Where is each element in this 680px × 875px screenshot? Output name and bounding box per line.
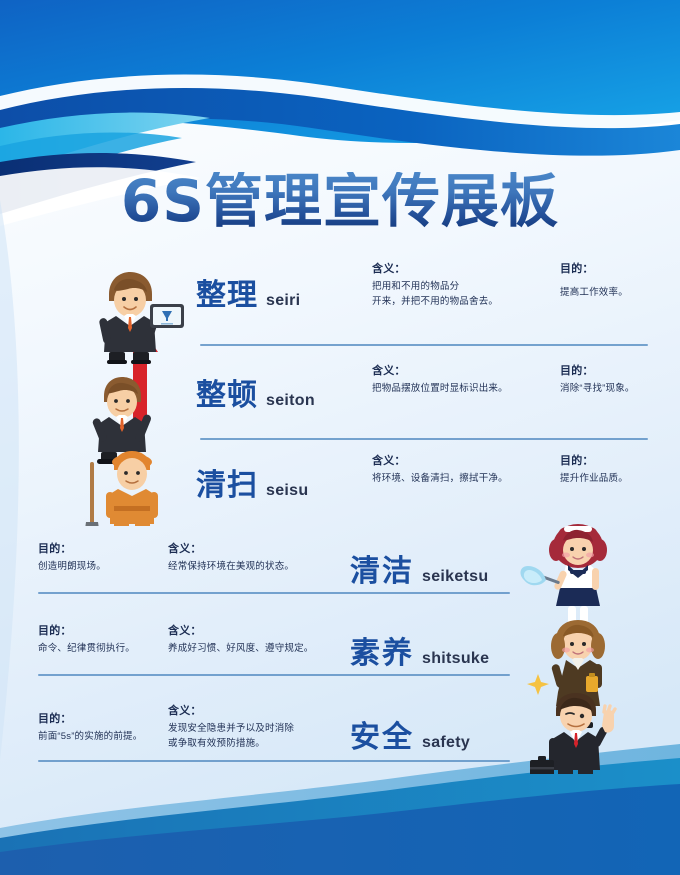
meaning-label: 含义： bbox=[372, 364, 562, 378]
row-seiketsu-romaji: seiketsu bbox=[422, 568, 488, 586]
page-title: 6S管理宣传展板 bbox=[121, 172, 559, 230]
purpose-label: 目的： bbox=[38, 624, 168, 638]
row-seiketsu-purpose: 目的： 创造明朗现场。 bbox=[38, 542, 158, 575]
purpose-label: 目的： bbox=[38, 542, 158, 556]
row-seiri-romaji: seiri bbox=[266, 292, 300, 310]
top-rows-section: 整理 seiri 含义： 把用和不用的物品分 开来，并把不用的物品舍去。 目的：… bbox=[0, 262, 680, 524]
row-seiton-purpose: 目的： 消除“寻找”现象。 bbox=[560, 364, 680, 397]
row-seiketsu-meaning: 含义： 经常保持环境在美观的状态。 bbox=[168, 542, 348, 575]
row-seisu-kanji: 清扫 bbox=[196, 460, 258, 504]
row-seiketsu-term: 清洁 seiketsu bbox=[350, 546, 488, 590]
meaning-text: 养成好习惯、好风度、遵守规定。 bbox=[168, 642, 358, 657]
row-safety-term: 安全 safety bbox=[350, 712, 470, 756]
purpose-label: 目的： bbox=[560, 454, 680, 468]
row-seisu-purpose: 目的： 提升作业品质。 bbox=[560, 454, 680, 487]
row-shitsuke-meaning: 含义： 养成好习惯、好风度、遵守规定。 bbox=[168, 624, 358, 657]
meaning-label: 含义： bbox=[168, 704, 348, 718]
row-shitsuke-term: 素养 shitsuke bbox=[350, 628, 489, 672]
sparkle-icon bbox=[527, 674, 549, 695]
purpose-text: 命令、纪律贯彻执行。 bbox=[38, 642, 168, 657]
meaning-text: 把用和不用的物品分 开来，并把不用的物品舍去。 bbox=[372, 280, 542, 309]
row-seiton-meaning: 含义： 把物品摆放位置时显标识出来。 bbox=[372, 364, 562, 397]
row-seisu-romaji: seisu bbox=[266, 482, 308, 500]
purpose-text: 提升作业品质。 bbox=[560, 472, 680, 487]
meaning-label: 含义： bbox=[168, 542, 348, 556]
row-seiton-romaji: seiton bbox=[266, 392, 315, 410]
row-divider-1 bbox=[200, 344, 648, 346]
row-safety-meaning: 含义： 发现安全隐患并予以及时消除 或争取有效预防措施。 bbox=[168, 704, 348, 752]
row-seiton-term: 整顿 seiton bbox=[196, 370, 315, 414]
meaning-text: 把物品摆放位置时显标识出来。 bbox=[372, 382, 562, 397]
row-seiketsu: 目的： 创造明朗现场。 含义： 经常保持环境在美观的状态。 清洁 seikets… bbox=[0, 542, 540, 618]
duster-icon bbox=[521, 566, 561, 585]
row-shitsuke-romaji: shitsuke bbox=[422, 650, 489, 668]
row-seiri-term: 整理 seiri bbox=[196, 270, 300, 314]
purpose-label: 目的： bbox=[38, 712, 166, 726]
meaning-text: 经常保持环境在美观的状态。 bbox=[168, 560, 348, 575]
row-seiton: 整顿 seiton 含义： 把物品摆放位置时显标识出来。 目的： 消除“寻找”现… bbox=[196, 362, 656, 440]
page-title-wrapper: 6S管理宣传展板 bbox=[0, 172, 680, 230]
row-shitsuke-kanji: 素养 bbox=[350, 628, 414, 672]
meaning-label: 含义： bbox=[372, 262, 542, 276]
row-seiri-purpose: 目的： 提高工作效率。 bbox=[560, 262, 670, 301]
right-illustration-group bbox=[516, 524, 646, 774]
row-seisu: 清扫 seisu 含义： 将环境、设备清扫，擦拭干净。 目的： 提升作业品质。 bbox=[196, 452, 656, 530]
row-seiri: 整理 seiri 含义： 把用和不用的物品分 开来，并把不用的物品舍去。 目的：… bbox=[196, 262, 656, 340]
row-seisu-term: 清扫 seisu bbox=[196, 460, 308, 504]
businessman-waving-icon bbox=[530, 693, 615, 774]
row-shitsuke: 目的： 命令、纪律贯彻执行。 含义： 养成好习惯、好风度、遵守规定。 素养 sh… bbox=[0, 624, 540, 700]
row-safety-romaji: safety bbox=[422, 734, 470, 752]
row-seisu-meaning: 含义： 将环境、设备清扫，擦拭干净。 bbox=[372, 454, 562, 487]
purpose-text: 消除“寻找”现象。 bbox=[560, 382, 680, 397]
purpose-text: 创造明朗现场。 bbox=[38, 560, 158, 575]
row-shitsuke-purpose: 目的： 命令、纪律贯彻执行。 bbox=[38, 624, 168, 657]
purpose-text: 前面“5s”的实施的前提。 bbox=[38, 730, 166, 745]
meaning-label: 含义： bbox=[168, 624, 358, 638]
meaning-text: 将环境、设备清扫，擦拭干净。 bbox=[372, 472, 562, 487]
row-safety-purpose: 目的： 前面“5s”的实施的前提。 bbox=[38, 712, 166, 745]
meaning-text: 发现安全隐患并予以及时消除 或争取有效预防措施。 bbox=[168, 722, 348, 751]
meaning-label: 含义： bbox=[372, 454, 562, 468]
purpose-label: 目的： bbox=[560, 364, 680, 378]
row-seiton-kanji: 整顿 bbox=[196, 370, 258, 414]
row-safety-kanji: 安全 bbox=[350, 712, 414, 756]
maid-with-duster-icon bbox=[521, 524, 607, 630]
row-seiri-kanji: 整理 bbox=[196, 270, 258, 314]
row-safety: 目的： 前面“5s”的实施的前提。 含义： 发现安全隐患并予以及时消除 或争取有… bbox=[0, 704, 540, 780]
purpose-text: 提高工作效率。 bbox=[560, 286, 670, 301]
poster-canvas: 6S管理宣传展板 bbox=[0, 0, 680, 875]
purpose-label: 目的： bbox=[560, 262, 670, 276]
row-seiketsu-kanji: 清洁 bbox=[350, 546, 414, 590]
row-divider-2 bbox=[200, 438, 648, 440]
row-seiri-meaning: 含义： 把用和不用的物品分 开来，并把不用的物品舍去。 bbox=[372, 262, 542, 310]
